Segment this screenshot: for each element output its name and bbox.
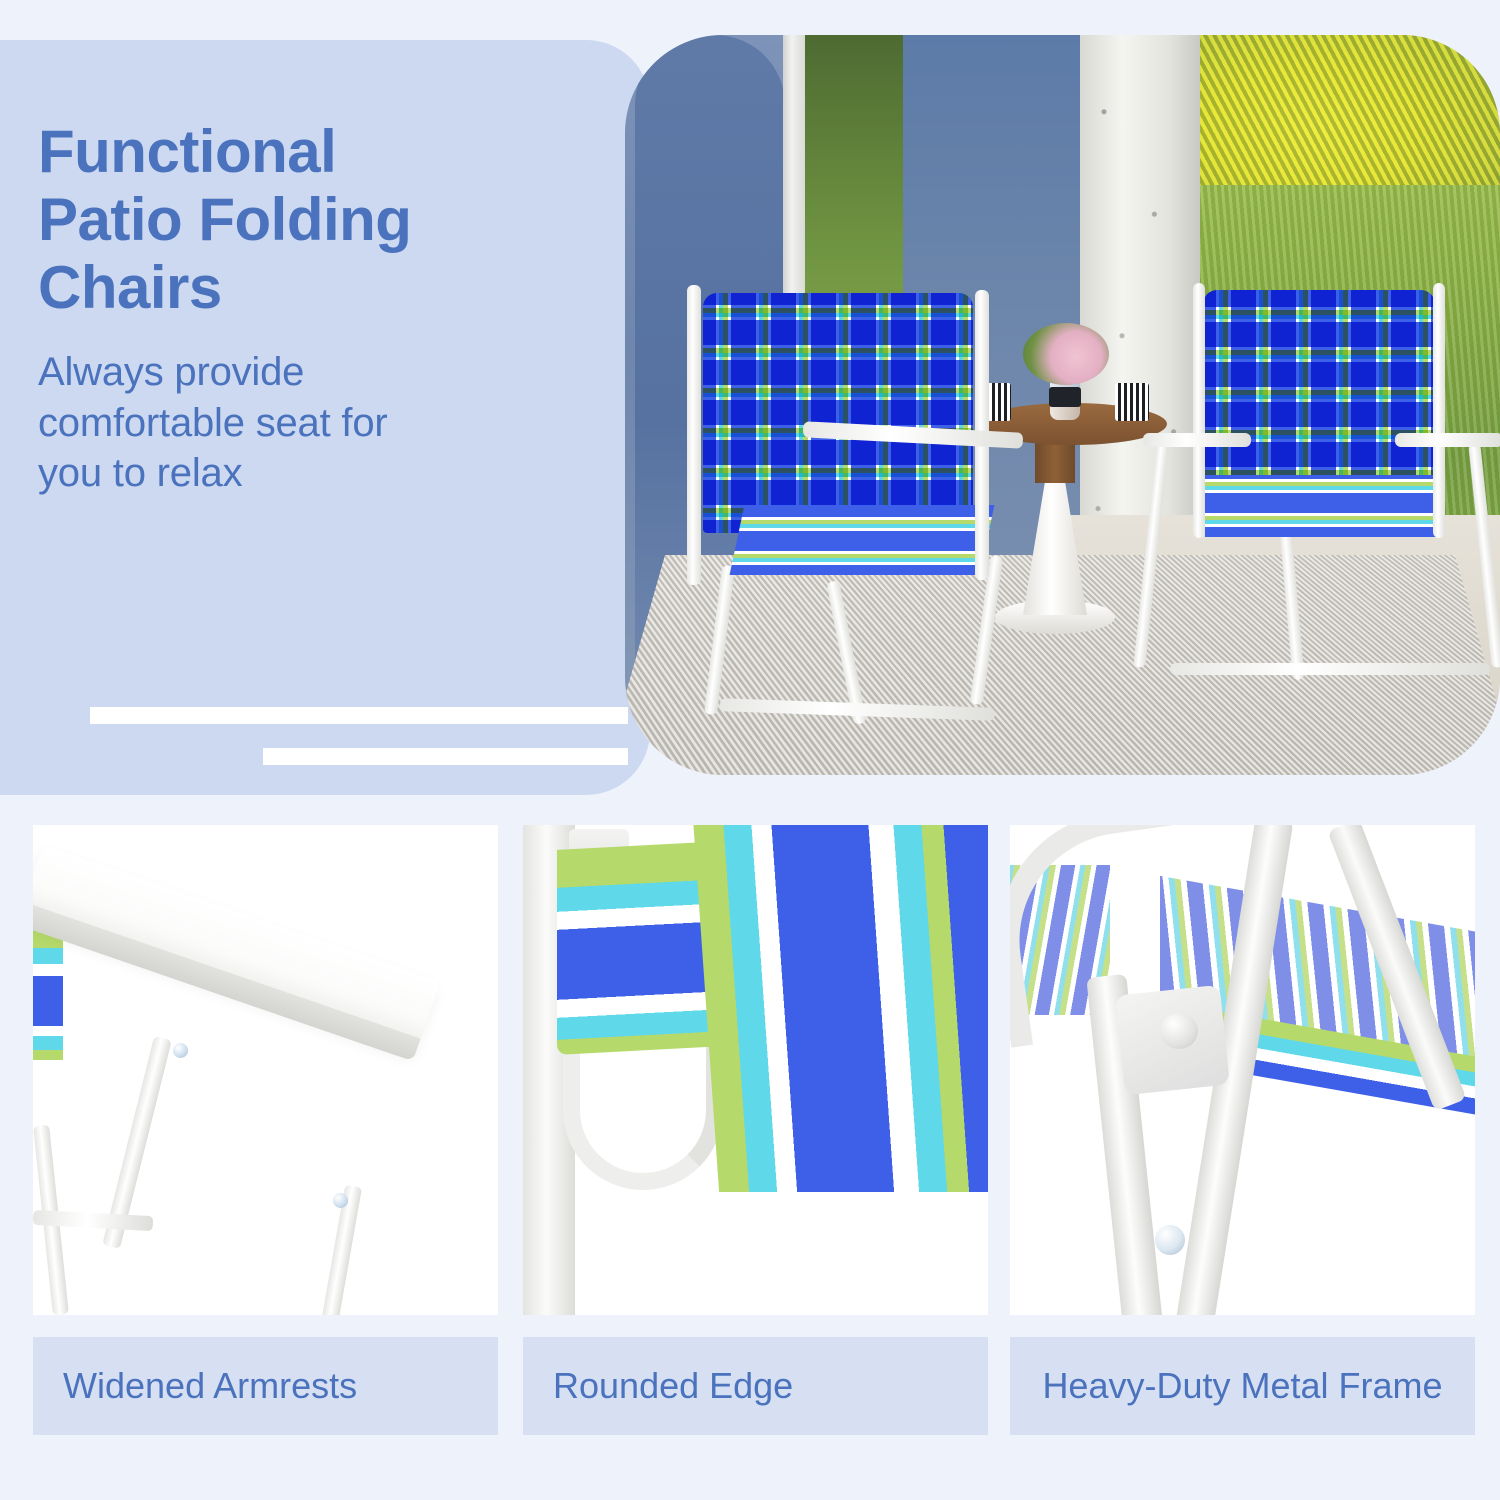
rounded-edge-curved-frame <box>563 1040 723 1190</box>
product-feature-page: Functional Patio Folding Chairs Always p… <box>0 0 1500 1500</box>
chair-right-seat-webbing <box>1205 475 1440 537</box>
page-title-line-1: Functional <box>38 118 628 186</box>
decorative-rule-top <box>90 707 628 724</box>
chair-left-seat-webbing <box>730 505 995 575</box>
widened-armrest <box>33 845 440 1055</box>
vase-ribbon <box>1049 387 1081 407</box>
feature-card-rounded-edge: Rounded Edge <box>523 825 988 1435</box>
feature-panels: Widened Armrests Rounded Edge <box>0 820 1500 1500</box>
page-title: Functional Patio Folding Chairs <box>38 118 628 321</box>
decorative-rule-bottom <box>263 748 628 765</box>
feature-caption-armrests: Widened Armrests <box>33 1337 498 1435</box>
chair-left-frame-rail-left <box>687 285 701 585</box>
hero-product-photo <box>625 35 1500 775</box>
page-subtitle-line-2: comfortable seat for <box>38 398 628 448</box>
hero-section: Functional Patio Folding Chairs Always p… <box>0 0 1500 790</box>
rounded-edge-vertical-strap <box>693 825 988 1192</box>
chair-right-armrest-right <box>1395 433 1500 447</box>
flower-bouquet <box>1023 323 1109 385</box>
feature-card-armrests: Widened Armrests <box>33 825 498 1435</box>
striped-mug-right <box>1115 383 1149 421</box>
chair-right-frame-rail-left <box>1193 283 1205 538</box>
feature-photo-rounded-edge <box>523 825 988 1315</box>
armrest-rivet-upper <box>173 1043 188 1058</box>
page-title-line-2: Patio Folding <box>38 186 628 254</box>
page-subtitle-line-1: Always provide <box>38 347 628 397</box>
chair-right-foot-rail <box>1170 663 1490 675</box>
hero-text-block: Functional Patio Folding Chairs Always p… <box>38 118 628 499</box>
feature-photo-metal-frame <box>1010 825 1475 1315</box>
feature-caption-metal-frame: Heavy-Duty Metal Frame <box>1010 1337 1475 1435</box>
metal-frame-hinge-pin <box>1160 1013 1198 1049</box>
chair-right-backrest-webbing <box>1203 290 1435 495</box>
page-subtitle-line-3: you to relax <box>38 448 628 498</box>
armrest-rivet-lower <box>333 1193 348 1208</box>
feature-card-metal-frame: Heavy-Duty Metal Frame <box>1010 825 1475 1435</box>
chair-right-frame-rail-right <box>1433 283 1445 538</box>
page-subtitle: Always provide comfortable seat for you … <box>38 347 628 498</box>
feature-caption-rounded-edge: Rounded Edge <box>523 1337 988 1435</box>
armrest-detail-webbing <box>33 930 63 1060</box>
chair-right-armrest-left <box>1143 433 1251 447</box>
chair-left-backrest-webbing <box>703 293 973 533</box>
feature-photo-armrests <box>33 825 498 1315</box>
metal-frame-lower-rivet <box>1155 1225 1185 1255</box>
page-title-line-3: Chairs <box>38 254 628 322</box>
